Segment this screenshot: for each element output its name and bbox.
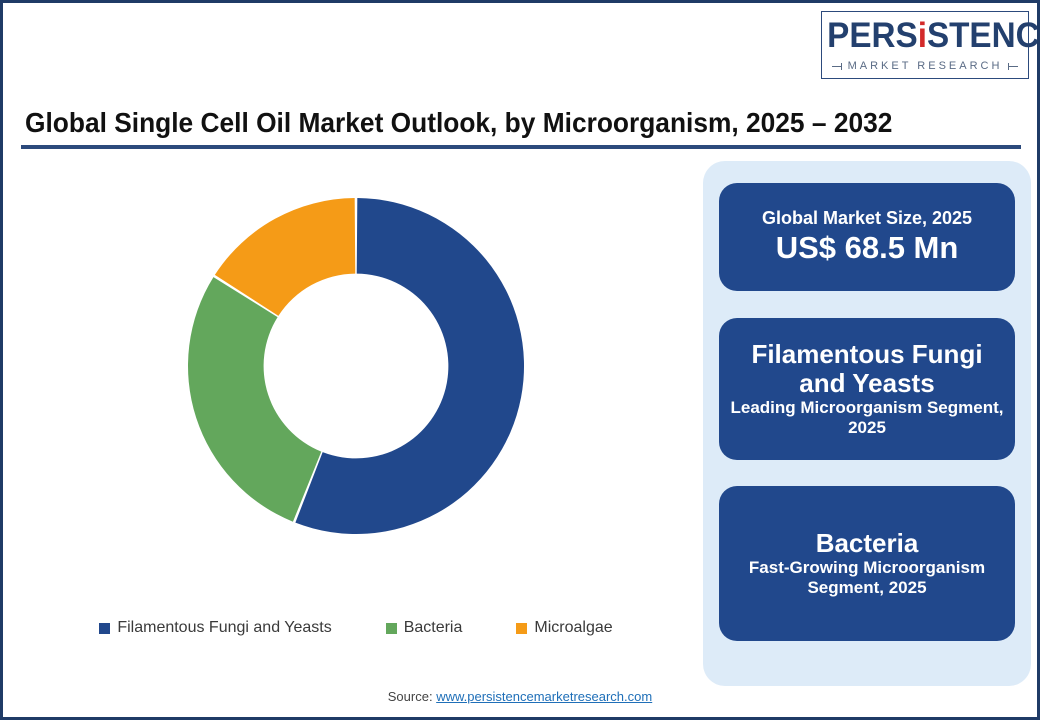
kpi-card-label: Global Market Size, 2025 [762,208,972,229]
page-title: Global Single Cell Oil Market Outlook, b… [25,107,892,139]
logo-rule-right-icon [1008,66,1018,67]
kpi-card-market-size[interactable]: Global Market Size, 2025 US$ 68.5 Mn [719,183,1015,291]
kpi-card-heading: Filamentous Fungi and Yeasts [729,340,1005,398]
legend-label: Filamentous Fungi and Yeasts [117,619,331,637]
kpi-card-leading-segment[interactable]: Filamentous Fungi and Yeasts Leading Mic… [719,318,1015,460]
legend-item-microalgae[interactable]: Microalgae [516,619,612,637]
donut-slices [188,198,524,534]
legend-label: Bacteria [404,619,463,637]
chart-legend: Filamentous Fungi and Yeasts Bacteria Mi… [21,619,691,637]
legend-item-filamentous-fungi-and-yeasts[interactable]: Filamentous Fungi and Yeasts [99,619,331,637]
donut-slice-bacteria[interactable] [188,277,321,522]
company-logo: PERSiSTENCE MARKET RESEARCH [821,11,1029,79]
kpi-panel: Global Market Size, 2025 US$ 68.5 Mn Fil… [703,161,1031,686]
source-line: Source: www.persistencemarketresearch.co… [3,689,1037,704]
logo-word-part1: PERS [827,16,918,55]
kpi-card-value: US$ 68.5 Mn [776,229,959,266]
kpi-card-subtext: Fast-Growing Microorganism Segment, 2025 [729,558,1005,599]
logo-word-accent-i: i [918,16,927,55]
legend-label: Microalgae [534,619,612,637]
infographic-frame: PERSiSTENCE MARKET RESEARCH Global Singl… [0,0,1040,720]
logo-subtitle: MARKET RESEARCH [848,60,1003,72]
kpi-card-heading: Bacteria [816,529,919,558]
logo-subtitle-row: MARKET RESEARCH [832,60,1018,72]
logo-rule-left-icon [832,66,842,67]
logo-wordmark: PERSiSTENCE [827,16,1023,56]
title-underline [21,145,1021,149]
legend-swatch-icon [99,623,110,634]
kpi-card-subtext: Leading Microorganism Segment, 2025 [729,398,1005,439]
legend-swatch-icon [516,623,527,634]
source-url-link[interactable]: www.persistencemarketresearch.com [436,689,652,704]
donut-chart-svg [186,196,526,536]
source-prefix: Source: [388,689,436,704]
legend-item-bacteria[interactable]: Bacteria [386,619,463,637]
kpi-card-fast-growing-segment[interactable]: Bacteria Fast-Growing Microorganism Segm… [719,486,1015,641]
donut-chart [21,153,691,593]
legend-swatch-icon [386,623,397,634]
logo-word-part2: STENCE [927,16,1040,55]
